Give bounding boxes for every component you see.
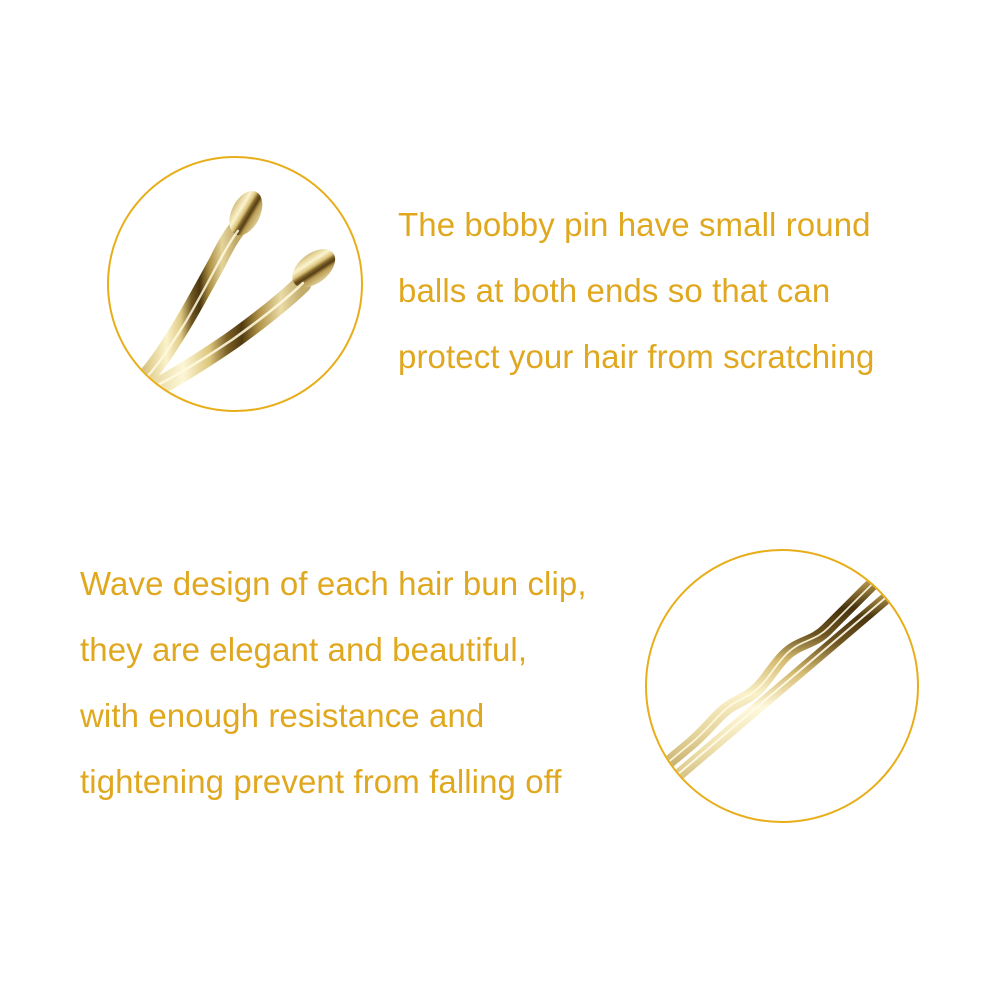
ball-ends-illustration [109, 158, 361, 410]
description-line: The bobby pin have small round [398, 192, 874, 258]
bobby-pin-ball-ends-photo [107, 156, 363, 412]
description-line: balls at both ends so that can [398, 258, 874, 324]
description-line: protect your hair from scratching [398, 324, 874, 390]
wave-design-illustration [647, 551, 917, 821]
straight-arm [657, 579, 909, 794]
product-feature-panel: The bobby pin have small round balls at … [0, 0, 1001, 1001]
description-line: they are elegant and beautiful, [80, 617, 587, 683]
bobby-pin-wave-design-photo [645, 549, 919, 823]
description-line: tightening prevent from falling off [80, 749, 587, 815]
pin-arm-right [125, 241, 342, 403]
wavy-arm [653, 559, 901, 776]
description-line: Wave design of each hair bun clip, [80, 551, 587, 617]
description-line: with enough resistance and [80, 683, 587, 749]
ball-ends-description: The bobby pin have small round balls at … [398, 192, 874, 390]
wave-design-description: Wave design of each hair bun clip, they … [80, 551, 587, 815]
